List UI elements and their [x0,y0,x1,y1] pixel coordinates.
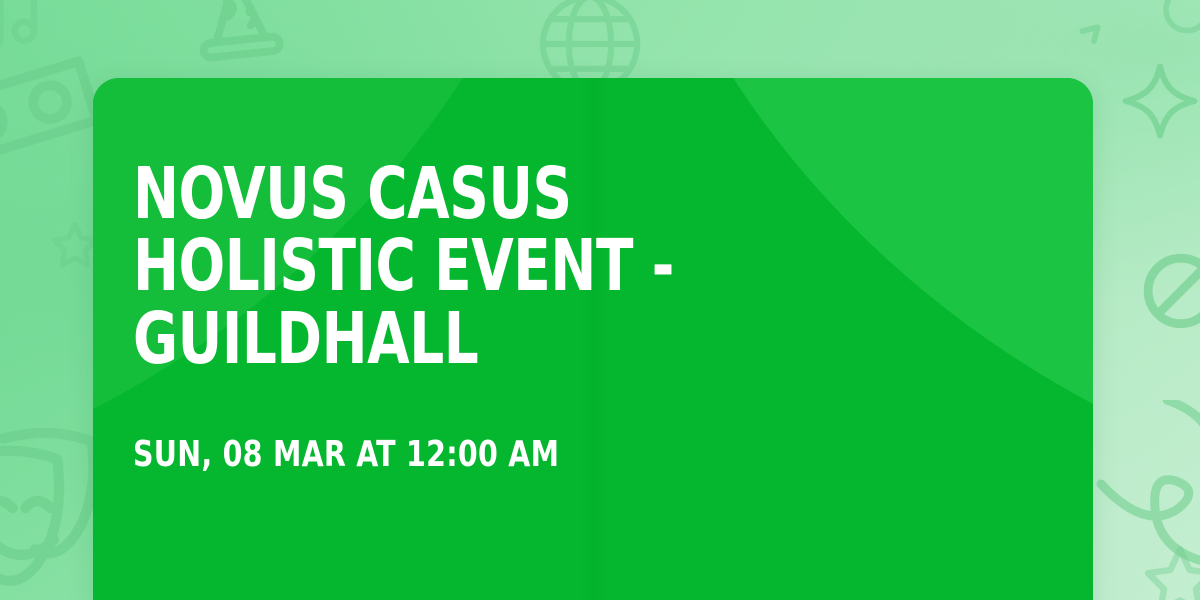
event-date: Sun, 08 Mar at 12:00 AM [133,437,943,473]
event-card[interactable]: Novus Casus Holistic Event - Guildhall S… [93,78,1093,600]
card-content: Novus Casus Holistic Event - Guildhall S… [133,78,1053,600]
event-banner: Novus Casus Holistic Event - Guildhall S… [0,0,1200,600]
event-title: Novus Casus Holistic Event - Guildhall [133,158,873,375]
